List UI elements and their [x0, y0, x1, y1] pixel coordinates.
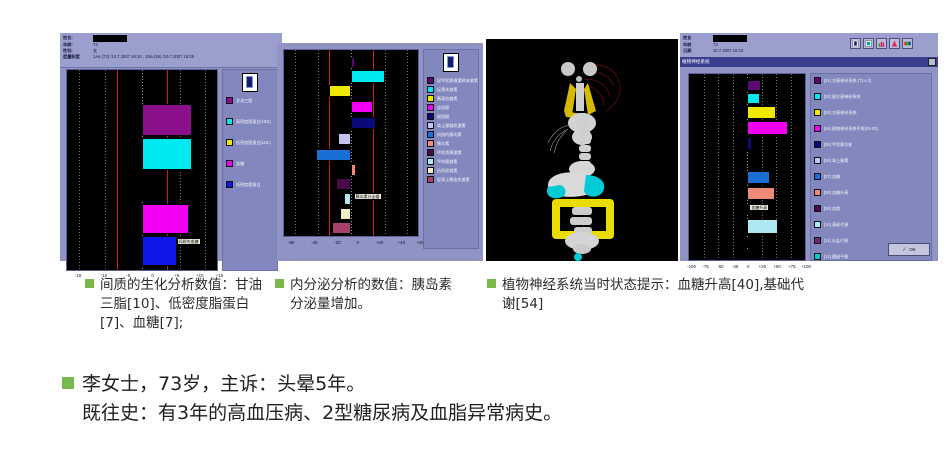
- header-key-name: 姓名: [683, 35, 713, 42]
- legend-item[interactable]: 促甲状腺激素释放激素: [427, 77, 478, 84]
- legend-label: [03] 交感神经系统: [824, 110, 857, 115]
- legend-item[interactable]: 高密度脂蛋白(HDL): [226, 118, 277, 125]
- legend-label: 甲状腺激素: [437, 159, 457, 164]
- bar-thyroid[interactable]: [344, 193, 351, 205]
- legend-swatch: [226, 118, 233, 125]
- bar-pth[interactable]: [336, 178, 351, 190]
- header-key-date: 日期: [683, 48, 713, 54]
- legend-label: [11] 水盐代谢: [824, 238, 848, 243]
- legend-label: 肾上腺髓质激素: [437, 123, 466, 128]
- legend-label: 醛固酮: [437, 114, 449, 119]
- legend-item[interactable]: [01] 交感神经系统 (T1-L3): [814, 77, 931, 84]
- legend-swatch: [226, 160, 233, 167]
- legend-item[interactable]: 甘油三脂: [226, 97, 277, 104]
- legend-swatch: [427, 95, 434, 102]
- legend-swatch: [226, 139, 233, 146]
- summary-line-1: 李女士，73岁，主诉：头晕5年。: [82, 370, 562, 399]
- legend-label: [12] 酸碱平衡: [824, 254, 848, 259]
- patient-header-1: 姓名: 年龄: 73 性别: 女 度量制度 1Aa (73) /10.7.200…: [60, 33, 282, 68]
- bar-insulin[interactable]: [351, 164, 356, 175]
- legend-item[interactable]: 抗利尿激素: [427, 167, 478, 174]
- bar-thyroid-function[interactable]: [747, 137, 752, 150]
- legend-swatch: [814, 93, 821, 100]
- legend-label: [10] 基础代谢: [824, 222, 848, 227]
- legend-swatch: [427, 104, 434, 111]
- caption-text: 间质的生化分析数值：甘油三脂[10]、低密度脂蛋白[7]、血糖[7];: [100, 276, 265, 333]
- chart1-tick-0: -15: [75, 273, 81, 278]
- legend-swatch: [814, 141, 821, 148]
- legend-swatch: [427, 158, 434, 165]
- panel-biochemistry: 姓名: 年龄: 73 性别: 女 度量制度 1Aa (73) /10.7.200…: [60, 33, 282, 261]
- legend-item[interactable]: 胰岛素: [427, 140, 478, 147]
- legend-item[interactable]: [07] 血糖: [814, 173, 931, 180]
- legend-swatch: [427, 131, 434, 138]
- chart1-tooltip: 间质的血糖: [177, 238, 201, 245]
- legend-item[interactable]: [06] 肾上腺素: [814, 157, 931, 164]
- bar-basal-metabolism[interactable]: [747, 219, 778, 234]
- legend-label: 胰高血糖素: [437, 96, 457, 101]
- legend-swatch: [427, 140, 434, 147]
- legend-item[interactable]: [03] 交感神经系统: [814, 109, 931, 116]
- legend-item[interactable]: [04] 植物神经系统平衡(01-03): [814, 125, 931, 132]
- close-icon[interactable]: [928, 58, 936, 66]
- legend-swatch: [427, 77, 434, 84]
- bar-blood-sugar-high[interactable]: [747, 187, 775, 200]
- bar-ldl[interactable]: [142, 236, 177, 266]
- window-titlebar[interactable]: 植物神经系统: [680, 57, 938, 67]
- chart4-plot-area[interactable]: 血糖升高: [688, 73, 806, 261]
- legend-swatch: [814, 125, 821, 132]
- legend-item[interactable]: 醛固酮: [427, 113, 478, 120]
- legend-swatch: [814, 205, 821, 212]
- legend-label: 胰岛素: [437, 141, 449, 146]
- bar-aldosterone[interactable]: [351, 117, 376, 129]
- legend-label: 甘油三脂: [236, 98, 252, 103]
- chart2-canvas: 胰岛素分泌量: [283, 49, 419, 237]
- chart4-tick-1: -75: [703, 264, 709, 269]
- bullet-icon: [487, 279, 496, 288]
- legend-item[interactable]: 皮质醇: [427, 104, 478, 111]
- legend-label: 甲状旁腺激素: [437, 150, 462, 155]
- panel-endocrine: 胰岛素分泌量 -60 -40 -20 0 +20 +40 +60 促甲状腺激素释…: [277, 43, 483, 261]
- legend-label: [06] 肾上腺素: [824, 158, 848, 163]
- bar-acth[interactable]: [332, 222, 351, 234]
- legend-swatch: [814, 189, 821, 196]
- bar-parasympathetic[interactable]: [747, 93, 760, 104]
- summary-block: 李女士，73岁，主诉：头晕5年。 既往史：有3年的高血压病、2型糖尿病及血脂异常…: [62, 370, 892, 428]
- reference-line-low: [117, 70, 118, 270]
- window-title: 植物神经系统: [682, 58, 710, 66]
- chart1-plot-area[interactable]: 间质的血糖: [66, 69, 218, 271]
- chart2-tick-2: -20: [334, 240, 340, 245]
- caption-2: 内分泌分析的数值：胰岛素分泌量增加。: [275, 276, 460, 314]
- legend-item[interactable]: 胰高血糖素: [427, 95, 478, 102]
- header-key-metric: 度量制度: [63, 54, 93, 60]
- legend-swatch: [226, 181, 233, 188]
- legend-item[interactable]: 肾上腺髓质激素: [427, 122, 478, 129]
- document-icon[interactable]: [242, 73, 258, 92]
- chart4-axis: -100 -75 -50 -25 0 +25 +50 +75 +100: [688, 264, 806, 272]
- chart4-tick-2: -50: [717, 264, 723, 269]
- chart4-tick-3: -25: [732, 264, 738, 269]
- chart1-legend: 甘油三脂 高密度脂蛋白(HDL) 低密度脂蛋白(LDL) 血糖 低密度脂蛋白: [222, 69, 278, 271]
- bar-lh[interactable]: [351, 70, 385, 82]
- legend-item[interactable]: [05] 甲状腺功能: [814, 141, 931, 148]
- legend-item[interactable]: 促肾上腺皮质激素: [427, 176, 478, 183]
- legend-label: 促肾上腺皮质激素: [437, 177, 470, 182]
- legend-swatch: [427, 176, 434, 183]
- legend-label: 高密度脂蛋白(HDL): [236, 119, 271, 124]
- legend-swatch: [814, 157, 821, 164]
- panel-autonomic-window: 姓名 年龄 73 日期 10.7.2007 16:10: [680, 33, 938, 261]
- legend-item[interactable]: 间质的胰岛素: [427, 131, 478, 138]
- legend-label: 低密度脂蛋白(LDL): [236, 140, 271, 145]
- bar-adrenaline[interactable]: [745, 154, 747, 167]
- summary-line-2: 既往史：有3年的高血压病、2型糖尿病及血脂异常病史。: [82, 399, 562, 428]
- legend-label: 抗利尿激素: [437, 168, 457, 173]
- legend-label: 血糖: [236, 161, 244, 166]
- bar-acid-base[interactable]: [747, 249, 749, 258]
- header-key-name: 姓名:: [63, 35, 93, 42]
- chart2-axis: -60 -40 -20 0 +20 +40 +60: [283, 240, 419, 248]
- legend-item[interactable]: [02] 副交感神经系统: [814, 93, 931, 100]
- legend-swatch: [814, 173, 821, 180]
- chart1-canvas: 间质的血糖: [66, 69, 218, 271]
- chart4-canvas: 血糖升高: [688, 73, 806, 261]
- caption-3: 植物神经系统当时状态提示：血糖升高[40],基础代谢[54]: [487, 276, 817, 314]
- legend-label: 低密度脂蛋白: [236, 182, 261, 187]
- bar-blood-lipid[interactable]: [746, 204, 748, 215]
- bar-adrenal-medulla[interactable]: [338, 133, 351, 145]
- chart2-legend: 促甲状腺激素释放激素 促黄体激素 胰高血糖素 皮质醇 醛固酮 肾上腺髓质激素 间…: [423, 49, 479, 249]
- slide-root: 姓名: 年龄: 73 性别: 女 度量制度 1Aa (73) /10.7.200…: [0, 0, 952, 465]
- legend-item[interactable]: [10] 基础代谢: [814, 221, 931, 228]
- chart4-tick-5: +25: [759, 264, 766, 269]
- bar-water-salt[interactable]: [747, 238, 749, 247]
- ok-label: OK: [909, 247, 916, 252]
- panel-anatomy-3d[interactable]: [486, 33, 678, 261]
- chart4-tick-4: 0: [747, 264, 749, 269]
- chart2-tick-0: -60: [288, 240, 294, 245]
- legend-item[interactable]: 血糖: [226, 160, 277, 167]
- document-icon[interactable]: [850, 38, 861, 49]
- name-mask: [93, 35, 282, 42]
- legend-item[interactable]: 促黄体激素: [427, 86, 478, 93]
- legend-label: 促甲状腺激素释放激素: [437, 78, 478, 83]
- bar-glucose[interactable]: [142, 204, 189, 234]
- legend-label: [02] 副交感神经系统: [824, 94, 861, 99]
- ok-button[interactable]: ✓ OK: [888, 243, 930, 256]
- bar-triglyceride[interactable]: [142, 104, 192, 136]
- legend-item[interactable]: 低密度脂蛋白: [226, 181, 277, 188]
- bar-ans-balance[interactable]: [747, 121, 788, 136]
- legend-swatch: [427, 167, 434, 174]
- chart2-plot-area[interactable]: 胰岛素分泌量: [283, 49, 419, 237]
- bar-trh[interactable]: [351, 57, 355, 67]
- window-icon[interactable]: [863, 38, 874, 49]
- chart2-tick-1: -40: [311, 240, 317, 245]
- legend-label: 促黄体激素: [437, 87, 457, 92]
- anatomy-model: [486, 39, 678, 261]
- legend-swatch: [814, 221, 821, 228]
- legend-item[interactable]: [08] 血糖升高: [814, 189, 931, 196]
- bar-cortisol[interactable]: [351, 101, 373, 113]
- header-row-metric: 度量制度 1Aa (73) /10.7.2007 16:10 , 1Na (55…: [60, 54, 282, 60]
- legend-label: [04] 植物神经系统平衡(01-03): [824, 126, 878, 131]
- chart4-tick-6: +50: [773, 264, 780, 269]
- bar-adh[interactable]: [340, 208, 351, 220]
- bar-ldl-thin[interactable]: [142, 172, 144, 202]
- chart2-tooltip: 胰岛素分泌量: [354, 193, 382, 200]
- legend-label: 皮质醇: [437, 105, 449, 110]
- legend-label: [01] 交感神经系统 (T1-L3): [824, 78, 871, 83]
- chart2-tick-5: +40: [398, 240, 405, 245]
- legend-swatch: [427, 113, 434, 120]
- bar-hdl[interactable]: [142, 138, 192, 170]
- legend-swatch: [814, 77, 821, 84]
- header-row-name: 姓名:: [60, 35, 282, 42]
- caption-1: 间质的生化分析数值：甘油三脂[10]、低密度脂蛋白[7]、血糖[7];: [85, 276, 265, 333]
- legend-item[interactable]: 低密度脂蛋白(LDL): [226, 139, 277, 146]
- chart4-tooltip: 血糖升高: [749, 204, 769, 211]
- caption-text: 植物神经系统当时状态提示：血糖升高[40],基础代谢[54]: [502, 276, 817, 314]
- legend-label: [07] 血糖: [824, 174, 840, 179]
- chart4-tick-8: +100: [801, 264, 811, 269]
- chart4-tick-0: -100: [687, 264, 696, 269]
- bar-chart-icon[interactable]: [876, 38, 887, 49]
- legend-swatch: [814, 237, 821, 244]
- bullet-icon: [85, 279, 94, 288]
- reference-line-low: [329, 50, 330, 236]
- bullet-icon: [62, 377, 74, 389]
- legend-swatch: [226, 97, 233, 104]
- legend-label: [09] 血脂: [824, 206, 840, 211]
- bullet-icon: [275, 279, 284, 288]
- document-icon[interactable]: [443, 53, 459, 72]
- legend-swatch: [814, 253, 821, 260]
- spectrum-icon[interactable]: [902, 38, 913, 49]
- legend-swatch: [814, 109, 821, 116]
- chart2-tick-4: +20: [376, 240, 383, 245]
- bar-blood-sugar[interactable]: [747, 171, 770, 184]
- bar-sympathetic[interactable]: [747, 106, 776, 119]
- check-icon: ✓: [902, 247, 907, 253]
- chart4-legend: [01] 交感神经系统 (T1-L3) [02] 副交感神经系统 [03] 交感…: [810, 73, 932, 261]
- chart4-tick-7: +75: [788, 264, 795, 269]
- bar-sympathetic-t1l3[interactable]: [747, 80, 761, 91]
- legend-label: [08] 血糖升高: [824, 190, 848, 195]
- header-val-metric: 1Aa (73) /10.7.2007 16:10 , 1Na (55) /10…: [93, 54, 282, 60]
- legend-label: [05] 甲状腺功能: [824, 142, 852, 147]
- legend-swatch: [427, 122, 434, 129]
- bar-interstitial-insulin[interactable]: [316, 149, 351, 161]
- legend-swatch: [427, 149, 434, 156]
- panel4-toolbar[interactable]: [850, 38, 913, 49]
- legend-item[interactable]: 甲状旁腺激素: [427, 149, 478, 156]
- caption-text: 内分泌分析的数值：胰岛素分泌量增加。: [290, 276, 460, 314]
- legend-swatch: [427, 86, 434, 93]
- chart2-tick-3: 0: [357, 240, 359, 245]
- bar-glucagon[interactable]: [329, 85, 351, 97]
- legend-label: 间质的胰岛素: [437, 132, 462, 137]
- legend-item[interactable]: 甲状腺激素: [427, 158, 478, 165]
- legend-item[interactable]: [09] 血脂: [814, 205, 931, 212]
- peak-chart-icon[interactable]: [889, 38, 900, 49]
